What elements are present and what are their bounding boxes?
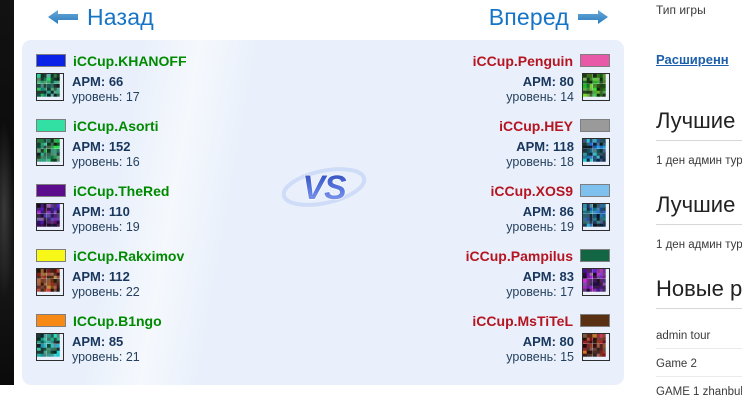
player-stats: APM: 85уровень: 21 xyxy=(72,333,140,364)
replay-item[interactable]: Game 2 xyxy=(656,358,697,370)
heading-new-replays: Новые р xyxy=(656,276,742,302)
player-header: iCCup.Asorti xyxy=(36,115,298,136)
replay-item[interactable]: admin tour xyxy=(656,330,710,342)
player-header: iCCup.KHANOFF xyxy=(36,50,298,71)
player-header: iCCup.Rakximov xyxy=(36,245,298,266)
arrow-right-icon xyxy=(578,4,608,31)
divider-e xyxy=(656,376,742,377)
game-type-label: Тип игры xyxy=(656,3,706,17)
terran-ghost-portrait xyxy=(582,203,610,231)
player-color-swatch xyxy=(36,249,66,262)
player-apm: APM: 110 xyxy=(72,204,130,219)
player-entry[interactable]: iCCup.MsTiTeLAPM: 80уровень: 15 xyxy=(348,310,610,375)
terran-marine-portrait xyxy=(36,268,64,296)
player-name[interactable]: iCCup.TheRed xyxy=(73,183,169,199)
player-stats: APM: 83уровень: 17 xyxy=(506,268,574,299)
player-entry[interactable]: iCCup.PampilusAPM: 83уровень: 17 xyxy=(348,245,610,310)
player-color-swatch xyxy=(36,119,66,132)
player-level: уровень: 21 xyxy=(72,350,140,364)
player-stats: APM: 112уровень: 22 xyxy=(72,268,140,299)
advanced-search-link[interactable]: Расширенн xyxy=(656,52,729,67)
player-name[interactable]: iCCup.Penguin xyxy=(473,53,573,69)
player-apm: APM: 80 xyxy=(523,334,574,349)
heading-best-b: Лучшие xyxy=(656,192,735,218)
player-body: APM: 152уровень: 16 xyxy=(36,138,298,169)
vs-badge: VS xyxy=(280,158,368,216)
player-apm: APM: 83 xyxy=(523,269,574,284)
player-color-swatch xyxy=(36,314,66,327)
player-header: iCCup.Penguin xyxy=(348,50,610,71)
zerg-hydralisk-portrait xyxy=(582,73,610,101)
team-right: iCCup.PenguinAPM: 80уровень: 14iCCup.HEY… xyxy=(348,50,610,375)
player-stats: APM: 118уровень: 18 xyxy=(506,138,574,169)
player-color-swatch xyxy=(36,184,66,197)
player-body: APM: 112уровень: 22 xyxy=(36,268,298,299)
player-stats: APM: 80уровень: 14 xyxy=(506,73,574,104)
divider-d xyxy=(656,348,742,349)
player-color-swatch xyxy=(580,54,610,67)
zerg-unit-portrait xyxy=(36,73,64,101)
terran-firebat-portrait xyxy=(582,333,610,361)
player-body: APM: 66уровень: 17 xyxy=(36,73,298,104)
player-entry[interactable]: iCCup.TheRedAPM: 110уровень: 19 xyxy=(36,180,298,245)
player-name[interactable]: iCCup.XOS9 xyxy=(491,183,573,199)
player-apm: APM: 118 xyxy=(516,139,574,154)
player-body: APM: 110уровень: 19 xyxy=(36,203,298,234)
player-name[interactable]: iCCup.KHANOFF xyxy=(73,53,187,69)
pagination-nav: Назад Вперед xyxy=(14,0,624,42)
player-level: уровень: 17 xyxy=(506,285,574,299)
player-level: уровень: 16 xyxy=(72,155,140,169)
protoss-archon-portrait xyxy=(582,138,610,166)
player-apm: APM: 152 xyxy=(72,139,131,154)
protoss-templar-portrait xyxy=(36,203,64,231)
player-entry[interactable]: iCCup.HEYAPM: 118уровень: 18 xyxy=(348,115,610,180)
player-body: APM: 80уровень: 15 xyxy=(348,333,610,364)
player-apm: APM: 80 xyxy=(523,74,574,89)
player-name[interactable]: iCCup.Asorti xyxy=(73,118,159,134)
player-color-swatch xyxy=(580,314,610,327)
player-color-swatch xyxy=(580,184,610,197)
player-level: уровень: 19 xyxy=(506,220,574,234)
forward-label: Вперед xyxy=(489,4,569,31)
player-level: уровень: 18 xyxy=(506,155,574,169)
player-level: уровень: 17 xyxy=(72,90,140,104)
divider-c xyxy=(656,308,742,309)
player-entry[interactable]: ICCup.B1ngoAPM: 85уровень: 21 xyxy=(36,310,298,375)
player-stats: APM: 80уровень: 15 xyxy=(506,333,574,364)
protoss-darktemplar-portrait xyxy=(582,268,610,296)
player-entry[interactable]: iCCup.XOS9APM: 86уровень: 19 xyxy=(348,180,610,245)
page-left-edge xyxy=(0,0,14,385)
divider-b xyxy=(656,224,742,225)
player-level: уровень: 14 xyxy=(506,90,574,104)
zerg-defiler-portrait xyxy=(36,333,64,361)
best-item-b[interactable]: 1 ден админ тур xyxy=(656,239,742,251)
team-left: iCCup.KHANOFFAPM: 66уровень: 17iCCup.Aso… xyxy=(36,50,298,375)
player-name[interactable]: ICCup.B1ngo xyxy=(73,313,162,329)
vs-label: VS xyxy=(302,169,347,207)
right-sidebar: Тип игры Расширенн Лучшие 1 ден админ ту… xyxy=(640,0,742,410)
player-body: APM: 85уровень: 21 xyxy=(36,333,298,364)
player-stats: APM: 152уровень: 16 xyxy=(72,138,140,169)
player-color-swatch xyxy=(36,54,66,67)
player-body: APM: 118уровень: 18 xyxy=(348,138,610,169)
player-stats: APM: 110уровень: 19 xyxy=(72,203,140,234)
player-stats: APM: 66уровень: 17 xyxy=(72,73,140,104)
back-link[interactable]: Назад xyxy=(48,4,154,31)
player-entry[interactable]: iCCup.PenguinAPM: 80уровень: 14 xyxy=(348,50,610,115)
player-entry[interactable]: iCCup.KHANOFFAPM: 66уровень: 17 xyxy=(36,50,298,115)
player-body: APM: 86уровень: 19 xyxy=(348,203,610,234)
player-header: ICCup.B1ngo xyxy=(36,310,298,331)
divider-a xyxy=(656,140,742,141)
player-body: APM: 80уровень: 14 xyxy=(348,73,610,104)
player-apm: APM: 85 xyxy=(72,334,123,349)
player-header: iCCup.MsTiTeL xyxy=(348,310,610,331)
player-name[interactable]: iCCup.HEY xyxy=(499,118,573,134)
protoss-unit-portrait xyxy=(36,138,64,166)
player-color-swatch xyxy=(580,249,610,262)
player-entry[interactable]: iCCup.RakximovAPM: 112уровень: 22 xyxy=(36,245,298,310)
back-label: Назад xyxy=(87,4,154,31)
forward-link[interactable]: Вперед xyxy=(489,4,608,31)
player-name[interactable]: iCCup.MsTiTeL xyxy=(472,313,573,329)
player-header: iCCup.Pampilus xyxy=(348,245,610,266)
player-apm: APM: 66 xyxy=(72,74,123,89)
player-level: уровень: 19 xyxy=(72,220,140,234)
player-level: уровень: 15 xyxy=(506,350,574,364)
player-apm: APM: 86 xyxy=(523,204,574,219)
heading-best-a: Лучшие xyxy=(656,108,735,134)
best-item-a[interactable]: 1 ден админ тур xyxy=(656,155,742,167)
player-name[interactable]: iCCup.Rakximov xyxy=(73,248,184,264)
player-color-swatch xyxy=(580,119,610,132)
match-panel: iCCup.KHANOFFAPM: 66уровень: 17iCCup.Aso… xyxy=(22,40,624,385)
arrow-left-icon xyxy=(48,4,78,31)
player-body: APM: 83уровень: 17 xyxy=(348,268,610,299)
player-entry[interactable]: iCCup.AsortiAPM: 152уровень: 16 xyxy=(36,115,298,180)
player-name[interactable]: iCCup.Pampilus xyxy=(466,248,573,264)
replay-item[interactable]: GAME 1 zhanbul xyxy=(656,386,742,398)
player-header: iCCup.HEY xyxy=(348,115,610,136)
player-stats: APM: 86уровень: 19 xyxy=(506,203,574,234)
player-header: iCCup.XOS9 xyxy=(348,180,610,201)
player-header: iCCup.TheRed xyxy=(36,180,298,201)
player-level: уровень: 22 xyxy=(72,285,140,299)
player-apm: APM: 112 xyxy=(72,269,130,284)
